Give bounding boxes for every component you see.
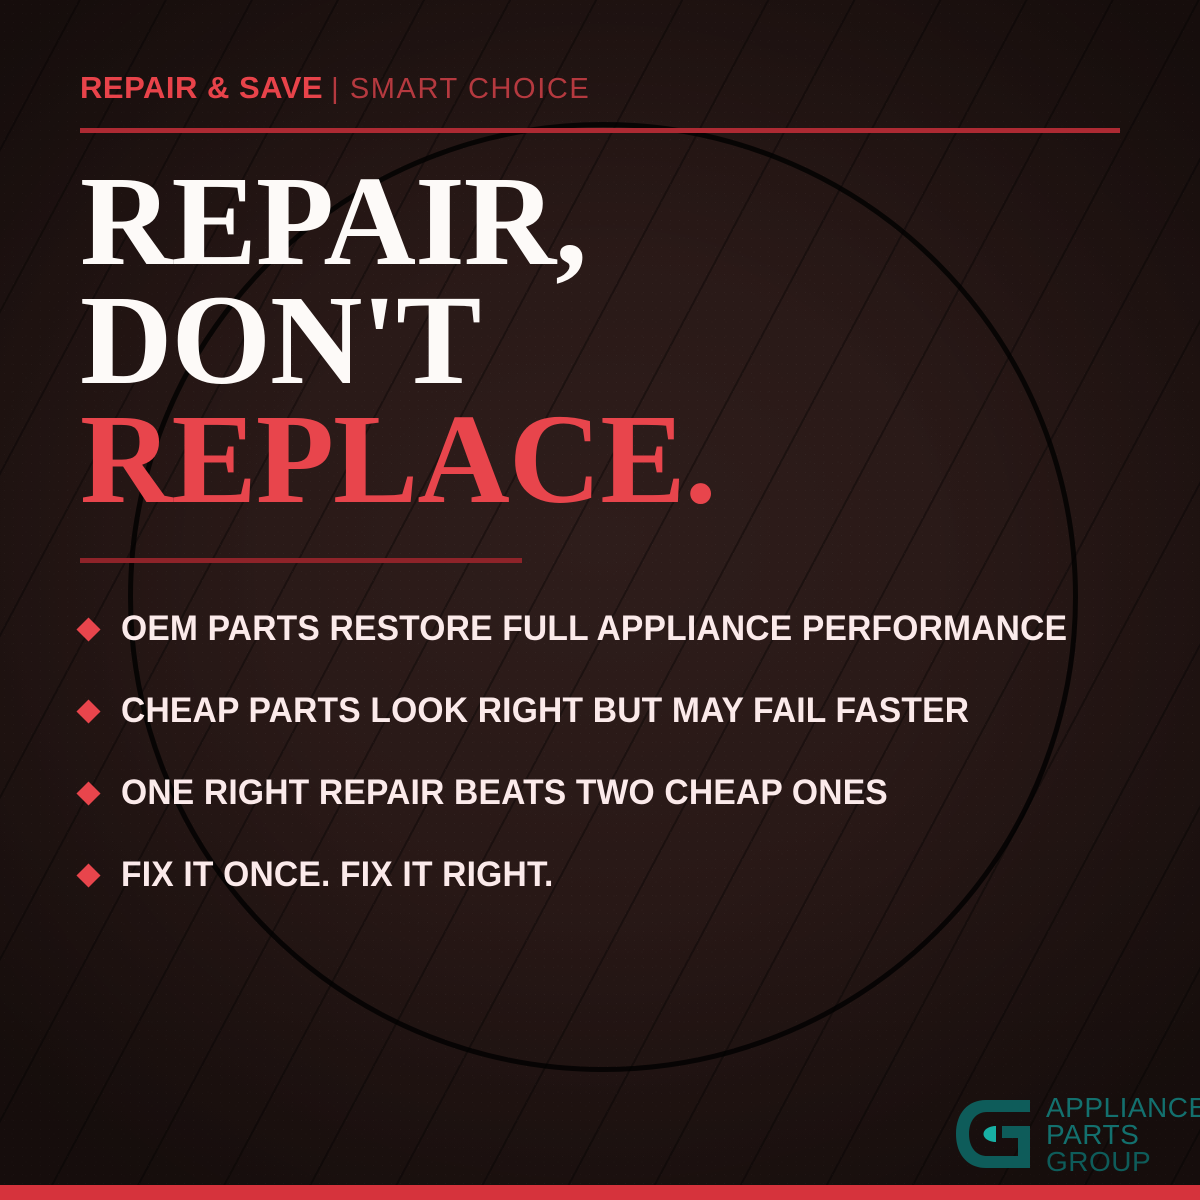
list-item: ONE RIGHT REPAIR BEATS TWO CHEAP ONES [80,752,1150,834]
diamond-bullet-icon [76,699,100,723]
poster-content: REPAIR & SAVE| SMART CHOICE REPAIR, DON'… [0,0,1200,1200]
g-monogram-icon [950,1092,1034,1176]
diamond-bullet-icon [76,781,100,805]
list-item: CHEAP PARTS LOOK RIGHT BUT MAY FAIL FAST… [80,670,1150,752]
promo-poster: REPAIR & SAVE| SMART CHOICE REPAIR, DON'… [0,0,1200,1200]
list-item-label: CHEAP PARTS LOOK RIGHT BUT MAY FAIL FAST… [121,691,969,731]
headline-line-1: REPAIR, [80,162,1120,281]
brand-word-3: GROUP [1046,1148,1200,1175]
headline-divider-rule [80,558,522,563]
diamond-bullet-icon [76,863,100,887]
eyebrow: REPAIR & SAVE| SMART CHOICE [80,72,590,104]
benefits-list: OEM PARTS RESTORE FULL APPLIANCE PERFORM… [80,588,1150,916]
brand-word-2: PARTS [1046,1121,1200,1148]
list-item-label: ONE RIGHT REPAIR BEATS TWO CHEAP ONES [121,773,888,813]
bottom-accent-bar [0,1185,1200,1200]
eyebrow-strong-label: REPAIR & SAVE [80,70,323,105]
headline-line-3: REPLACE. [80,400,1120,519]
brand-word-1: APPLIANCE [1046,1094,1200,1121]
list-item-label: FIX IT ONCE. FIX IT RIGHT. [121,855,553,895]
page-title: REPAIR, DON'T REPLACE. [80,162,1120,519]
brand-logo: APPLIANCE PARTS GROUP [950,1092,1200,1176]
header-rule [80,128,1120,133]
eyebrow-sub-label: | SMART CHOICE [331,73,590,105]
list-item-label: OEM PARTS RESTORE FULL APPLIANCE PERFORM… [121,609,1067,649]
diamond-bullet-icon [76,617,100,641]
headline-line-2: DON'T [80,281,1120,400]
list-item: FIX IT ONCE. FIX IT RIGHT. [80,834,1150,916]
brand-wordmark: APPLIANCE PARTS GROUP [1046,1092,1200,1175]
list-item: OEM PARTS RESTORE FULL APPLIANCE PERFORM… [80,588,1150,670]
